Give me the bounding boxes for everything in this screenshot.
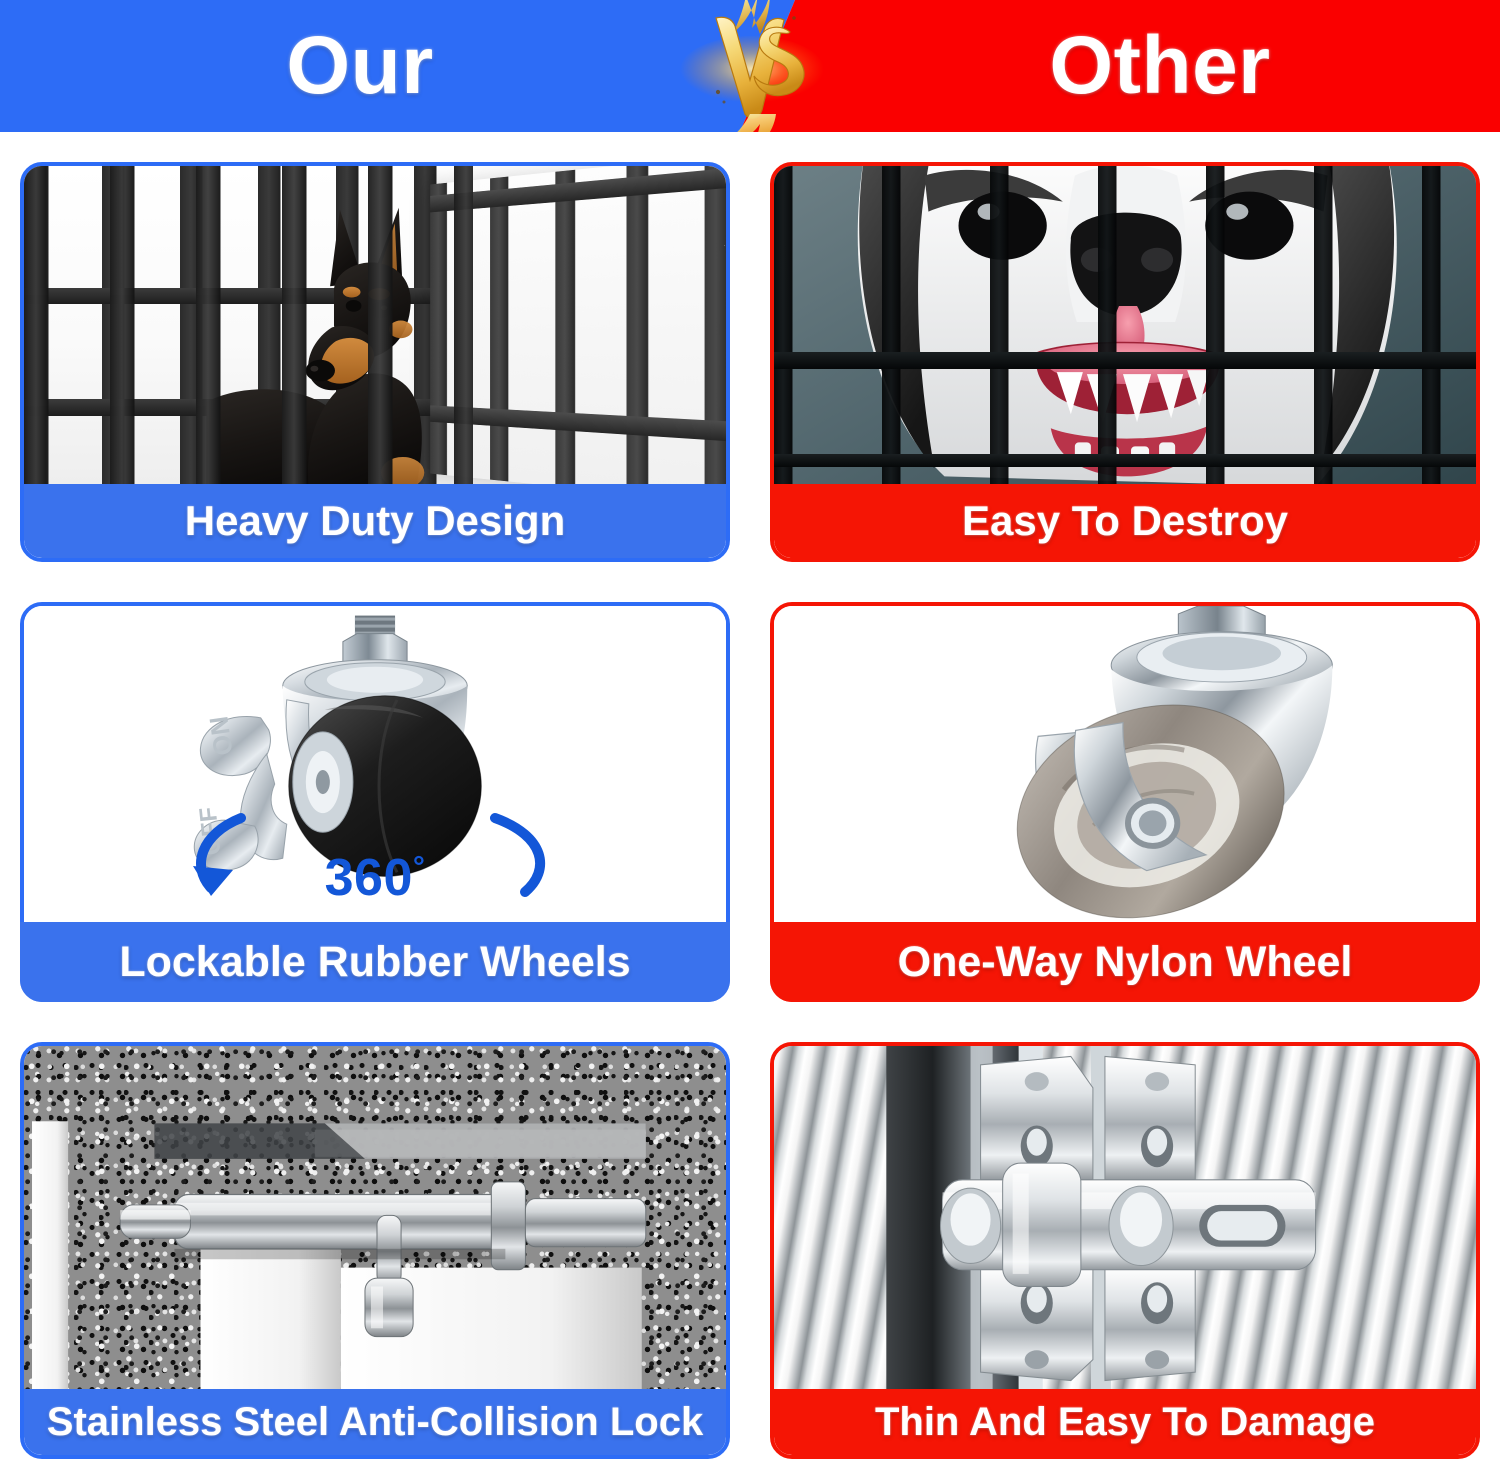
cell-our-lockable-wheels: ON OFF 360° Lockabl xyxy=(0,572,750,1012)
image-stainless-steel-bolt-lock xyxy=(24,1046,726,1391)
panel-other-thin-lock: Thin And Easy To Damage xyxy=(770,1042,1480,1459)
header-our-label: Our xyxy=(120,0,600,132)
cell-other-nylon-wheel: One-Way Nylon Wheel xyxy=(750,572,1500,1012)
cell-other-easy-destroy: Easy To Destroy xyxy=(750,132,1500,572)
caption-other-easy-destroy: Easy To Destroy xyxy=(774,484,1476,558)
panel-our-steel-lock: Stainless Steel Anti-Collision Lock xyxy=(20,1042,730,1459)
caption-our-heavy-duty: Heavy Duty Design xyxy=(24,484,726,558)
panel-our-heavy-duty: Heavy Duty Design xyxy=(20,162,730,562)
rotation-value: 360 xyxy=(325,849,413,907)
header-banner: Our Other xyxy=(0,0,1500,132)
rotation-360-label: 360° xyxy=(325,852,426,904)
panel-other-easy-destroy: Easy To Destroy xyxy=(770,162,1480,562)
panel-our-lockable-wheels: ON OFF 360° Lockabl xyxy=(20,602,730,1002)
comparison-grid: Heavy Duty Design xyxy=(0,132,1500,1467)
caption-other-nylon-wheel: One-Way Nylon Wheel xyxy=(770,922,1480,1002)
brake-on-label: ON xyxy=(203,714,238,757)
image-nylon-caster-wheel xyxy=(774,606,1476,922)
comparison-infographic: Our Other xyxy=(0,0,1500,1467)
image-lockable-rubber-caster: ON OFF 360° xyxy=(24,606,726,922)
caption-our-steel-lock: Stainless Steel Anti-Collision Lock xyxy=(24,1389,726,1455)
image-doberman-cage xyxy=(24,166,726,486)
cell-our-heavy-duty: Heavy Duty Design xyxy=(0,132,750,572)
cell-other-thin-lock: Thin And Easy To Damage xyxy=(750,1012,1500,1467)
degree-symbol: ° xyxy=(413,851,426,884)
image-thin-chrome-latch xyxy=(774,1046,1476,1391)
image-husky-biting-bars xyxy=(774,166,1476,486)
cell-our-steel-lock: Stainless Steel Anti-Collision Lock xyxy=(0,1012,750,1467)
header-other-label: Other xyxy=(900,0,1420,132)
panel-other-nylon-wheel: One-Way Nylon Wheel xyxy=(770,602,1480,1002)
caption-our-lockable-wheels: Lockable Rubber Wheels xyxy=(20,922,730,1002)
caption-other-thin-lock: Thin And Easy To Damage xyxy=(774,1389,1476,1455)
